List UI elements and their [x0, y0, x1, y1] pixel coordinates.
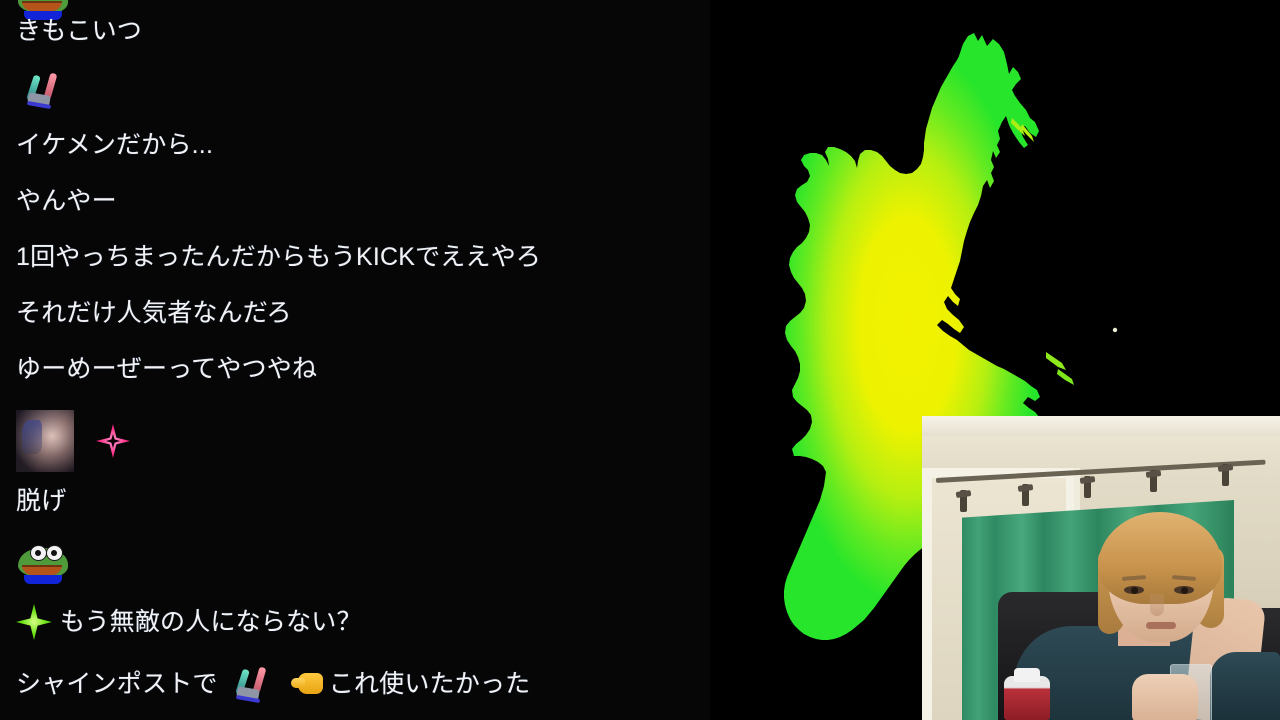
- pepe-emote: [16, 542, 74, 586]
- person-mouth: [1146, 622, 1176, 629]
- chat-message: シャインポストで これ使いたかった: [0, 666, 710, 702]
- map-island: [1046, 352, 1066, 370]
- person-eye-left: [1124, 586, 1144, 594]
- drink-bottle-cap: [1014, 668, 1040, 682]
- person-eye-right: [1174, 586, 1194, 594]
- chat-message: きもこいつ: [0, 16, 710, 46]
- curtain-clip: [1084, 476, 1091, 498]
- person-nose: [1150, 594, 1164, 616]
- chat-message: [0, 410, 710, 472]
- photo-thumbnail: [16, 410, 74, 472]
- penlight-emote: [229, 666, 281, 702]
- chat-message: 1回やっちまったんだからもうKICKでええやろ: [0, 242, 710, 272]
- chat-message: ゆーめーぜーってやつやね: [0, 354, 710, 384]
- chat-message-list[interactable]: きもこいつ イケメンだから... やんやー 1回やっちまったんだからもうKICK…: [0, 0, 710, 720]
- chat-message: [0, 72, 710, 108]
- chat-message: もう無敵の人にならない？: [0, 604, 710, 640]
- room-ceiling: [922, 416, 1280, 436]
- chat-message: それだけ人気者なんだろ: [0, 298, 710, 328]
- chat-message: イケメンだから...: [0, 130, 710, 160]
- curtain-clip: [1150, 470, 1157, 492]
- chat-message: 脱げ: [0, 486, 710, 516]
- chat-message-text: 脱げ: [16, 486, 66, 516]
- chat-panel[interactable]: きもこいつ イケメンだから... やんやー 1回やっちまったんだからもうKICK…: [0, 0, 710, 720]
- chat-message-text: 1回やっちまったんだからもうKICKでええやろ: [16, 242, 541, 272]
- chat-message-text: イケメンだから...: [16, 130, 213, 160]
- person-sleeve: [1210, 652, 1280, 720]
- person-hand: [1132, 674, 1198, 720]
- curtain-clip: [960, 490, 967, 512]
- drink-bottle: [1004, 676, 1050, 720]
- pointing-hand-emote: [291, 669, 325, 699]
- map-island: [1057, 369, 1074, 385]
- stream-screen: きもこいつ イケメンだから... やんやー 1回やっちまったんだからもうKICK…: [0, 0, 1280, 720]
- chat-message-text-before: シャインポストで: [16, 669, 225, 699]
- chat-message-text: それだけ人気者なんだろ: [16, 298, 292, 328]
- chat-message-text: きもこいつ: [16, 16, 142, 46]
- map-island-dot: [1113, 328, 1117, 332]
- green-sparkle-emote: [16, 604, 52, 640]
- streamer-webcam-overlay[interactable]: [922, 416, 1280, 720]
- chat-message: やんやー: [0, 186, 710, 216]
- chat-message: [0, 542, 710, 586]
- chat-message-text: ゆーめーぜーってやつやね: [16, 354, 317, 384]
- curtain-clip: [1022, 484, 1029, 506]
- curtain-clip: [1222, 464, 1229, 486]
- pink-sparkle-emote: [96, 424, 130, 458]
- chat-message-text-after: これ使いたかった: [329, 669, 531, 699]
- chat-message-text: やんやー: [16, 186, 117, 216]
- penlight-emote: [20, 72, 72, 108]
- chat-message-text: もう無敵の人にならない？: [60, 607, 362, 637]
